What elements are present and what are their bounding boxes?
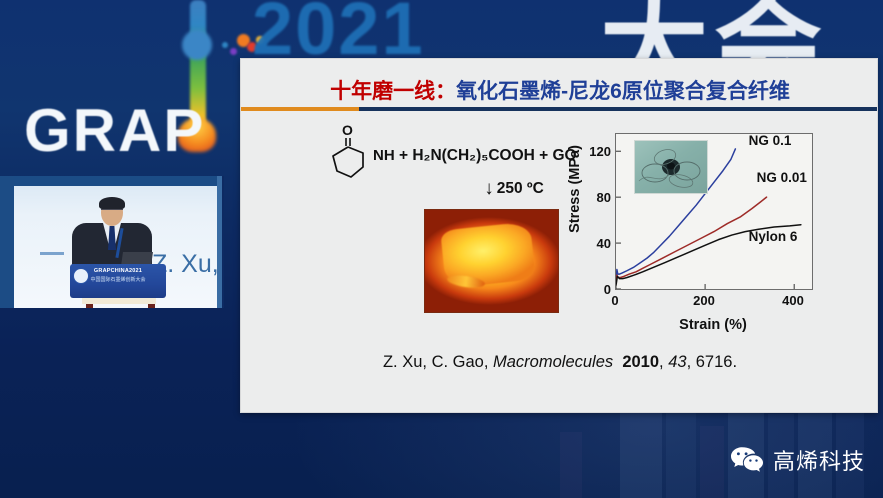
lectern-sublabel: 中国国际石墨烯创新大会 (78, 276, 158, 283)
svg-text:O: O (342, 122, 353, 138)
x-tick-label: 200 (693, 293, 715, 308)
stage-left-panel (0, 176, 14, 308)
y-tick-label: 120 (581, 144, 611, 159)
x-tick-label: 400 (782, 293, 804, 308)
curve-label-ng-0-01: NG 0.01 (757, 170, 807, 185)
stage-ceiling-band (0, 176, 222, 186)
stress-strain-chart: Stress (MPa) 0 40 80 120 (559, 123, 849, 371)
curve-label-nylon-6: Nylon 6 (749, 229, 798, 244)
chart-y-axis-ticks: 0 40 80 120 (577, 123, 611, 293)
lectern-label: GRAPCHINA2021 (78, 268, 158, 274)
monomer-equation: + H₂N(CH₂)₅COOH + GO (399, 147, 577, 165)
y-tick-label: 0 (581, 282, 611, 297)
curve-label-ng-0-1: NG 0.1 (749, 133, 792, 148)
wechat-watermark: 高烯科技 (730, 444, 865, 476)
slide-title-blue-part: 氧化石墨烯-尼龙6原位聚合复合纤维 (456, 80, 790, 103)
wall-dash-decor (40, 252, 64, 255)
x-tick-label: 0 (611, 293, 618, 308)
citation-volume: 43 (668, 353, 686, 371)
fiber-coil-optical-image (634, 140, 708, 194)
citation-page: 6716. (696, 353, 737, 371)
slide-title-red-part: 十年磨一线： (330, 80, 456, 103)
nh-group-label: NH (373, 147, 395, 164)
wechat-icon (730, 446, 764, 474)
reaction-temperature: 250 ºC (497, 180, 544, 197)
title-divider-rule (241, 107, 878, 111)
chart-plot-area (615, 133, 813, 290)
slide-title: 十年磨一线：氧化石墨烯-尼龙6原位聚合复合纤维 (241, 75, 878, 105)
down-arrow-icon: ↓ (484, 179, 494, 198)
y-tick-label: 80 (581, 190, 611, 205)
speaker-glasses-icon (101, 209, 123, 215)
speaker-video-feed[interactable]: Z. Xu, GRAPCHINA2021 中国国际石墨烯创新大会 (0, 176, 224, 308)
background-brand-text: GRAP (24, 96, 205, 165)
skyline-silhouette (666, 406, 696, 498)
chart-x-axis-label: Strain (%) (615, 317, 811, 333)
citation-journal: Macromolecules (493, 353, 613, 371)
chart-x-axis-ticks: 0 200 400 (615, 293, 811, 313)
skyline-silhouette (560, 432, 582, 498)
citation-line: Z. Xu, C. Gao, Macromolecules 2010, 43, … (241, 353, 878, 372)
citation-authors: Z. Xu, C. Gao, (383, 353, 493, 371)
confetti-dot (222, 42, 228, 48)
wechat-account-name: 高烯科技 (773, 444, 865, 476)
y-tick-label: 40 (581, 236, 611, 251)
presentation-slide[interactable]: 十年磨一线：氧化石墨烯-尼龙6原位聚合复合纤维 O NH + H₂N(CH₂)₅… (240, 58, 878, 413)
skyline-silhouette (700, 426, 724, 498)
confetti-dot (230, 48, 237, 55)
go-flake-afm-image (424, 209, 559, 313)
conference-stage-background: 2021 大会 GRAP Z. Xu, GRAPCHINA2021 中国国际石墨… (0, 0, 883, 498)
stage-right-panel (217, 176, 222, 308)
reaction-condition: ↓250 ºC (469, 179, 559, 198)
citation-year: 2010 (622, 353, 659, 371)
decorative-tower-sphere (182, 30, 212, 60)
